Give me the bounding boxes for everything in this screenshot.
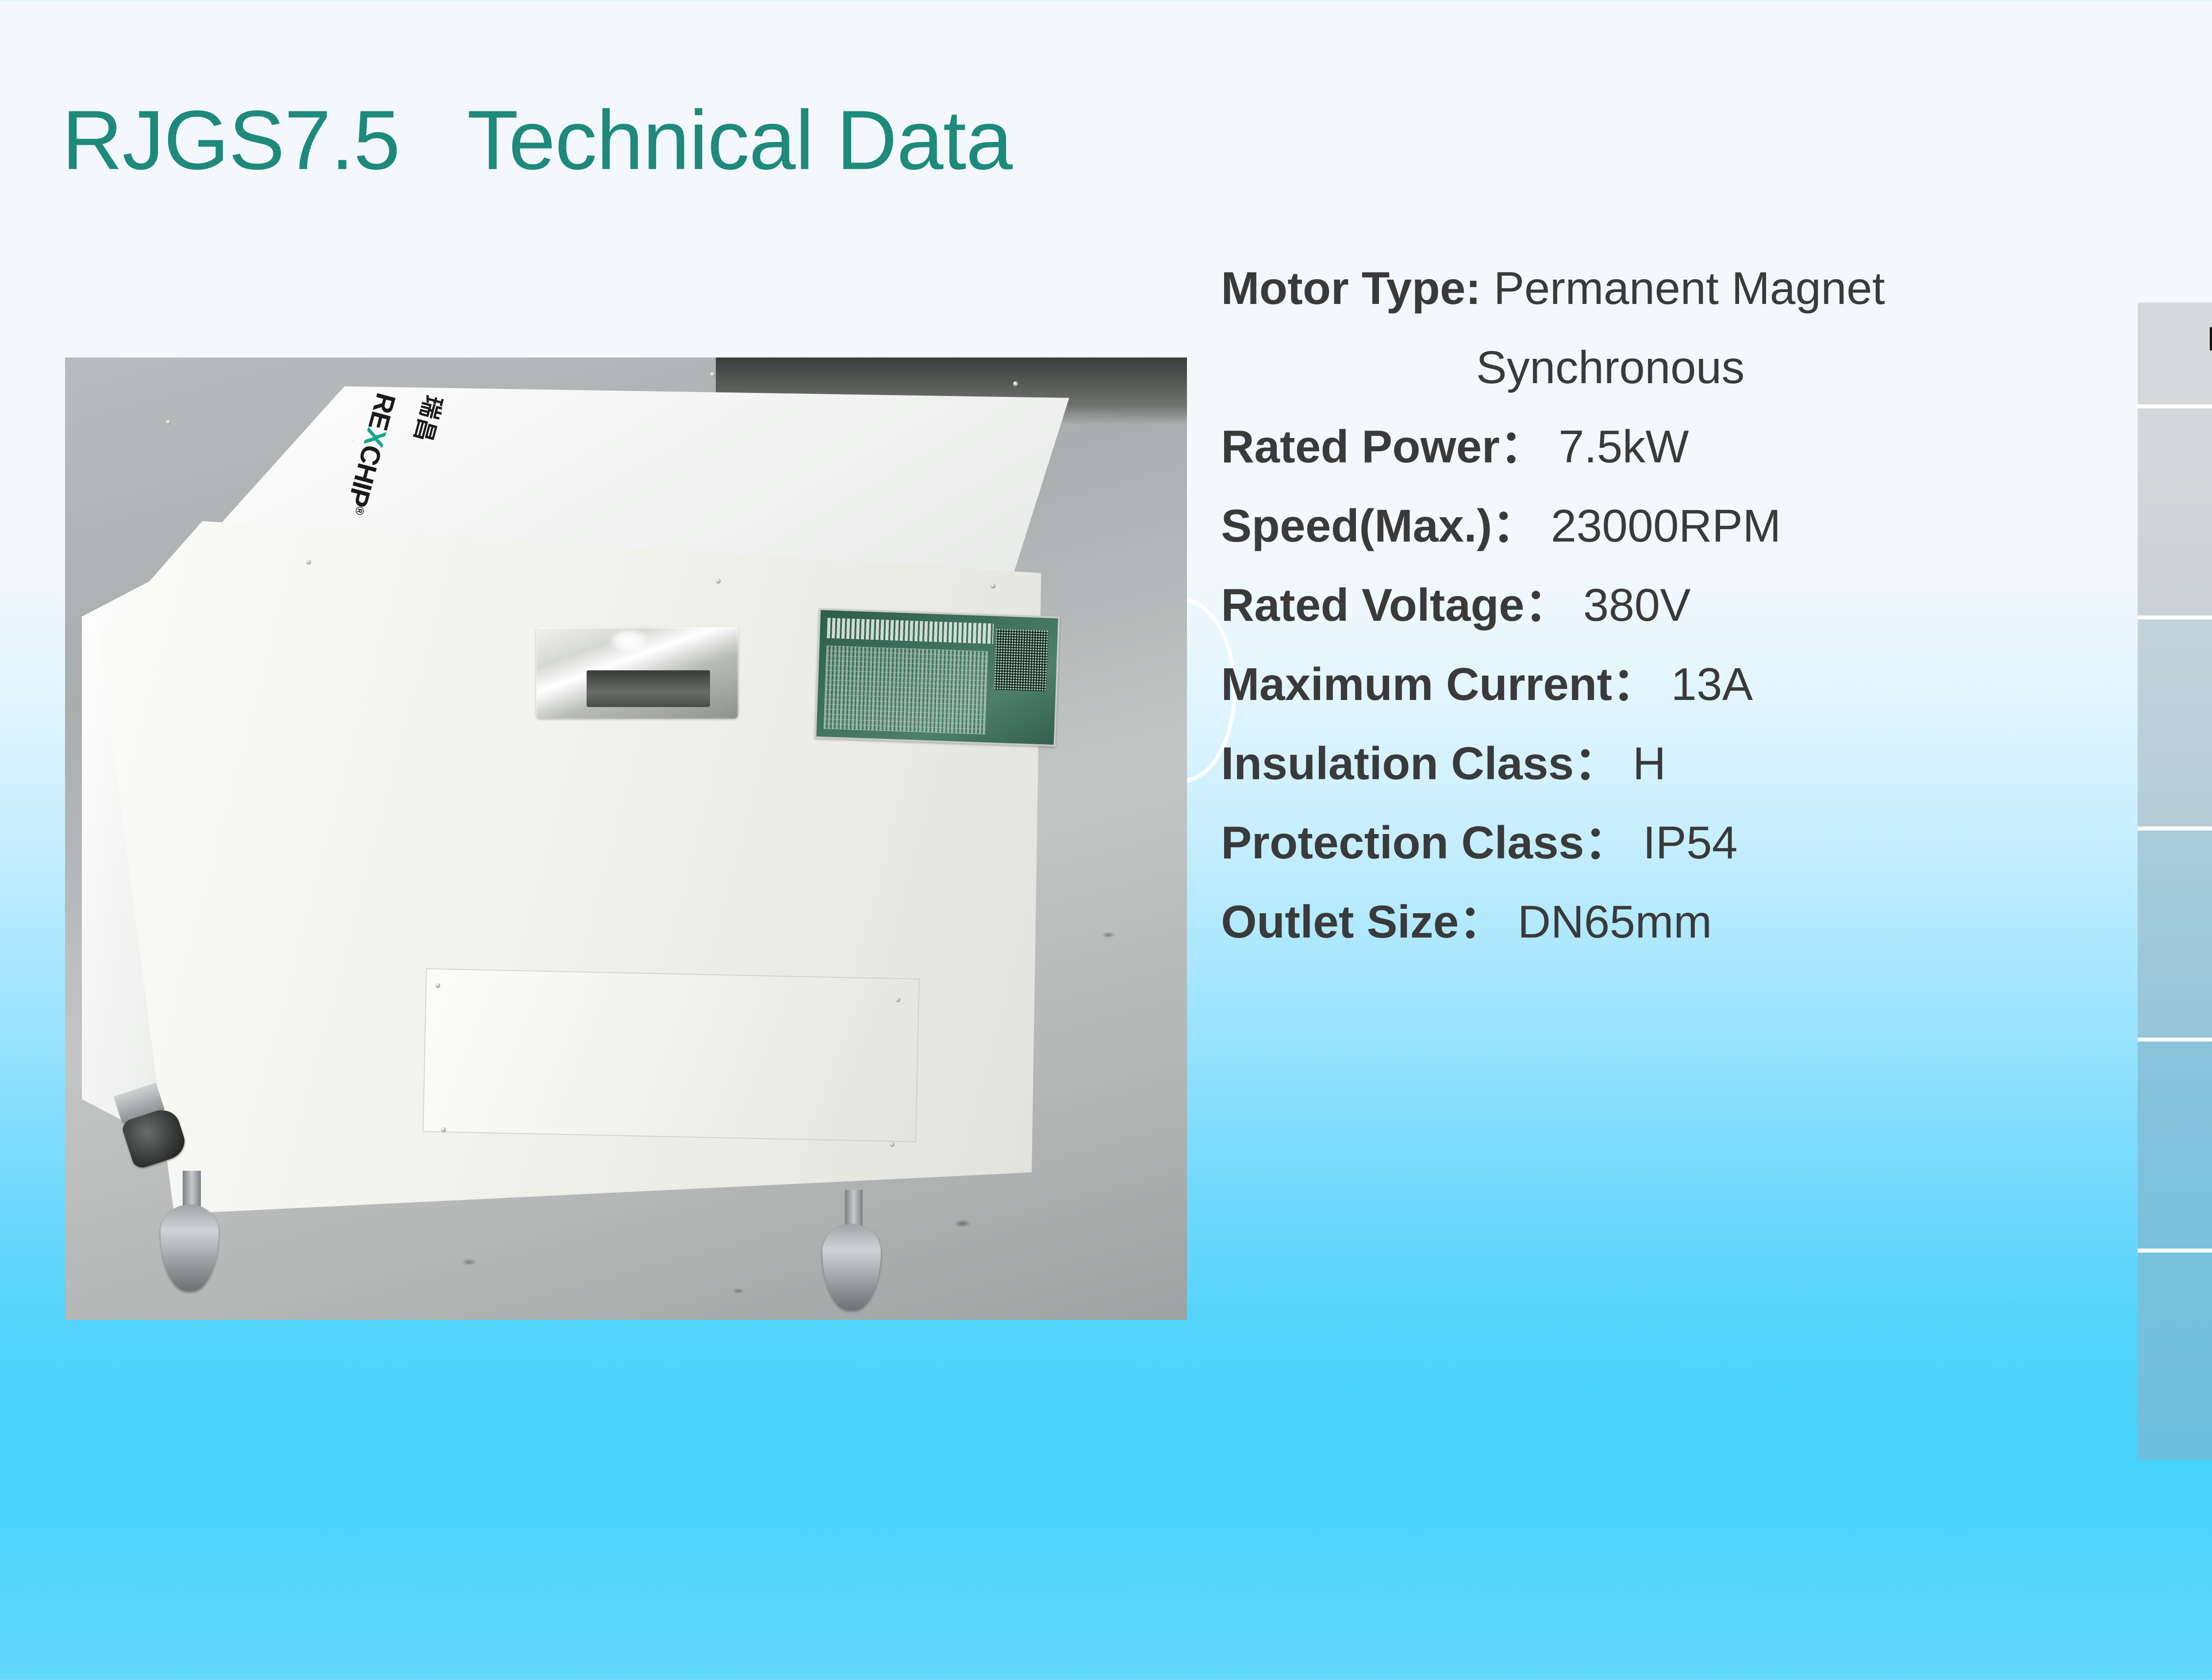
spec-label: Protection Class：	[1221, 817, 1630, 869]
product-photo: REXCHIP® 瑞昌	[65, 358, 1187, 1320]
spec-row-speed-max: Speed(Max.)： 23000RPM	[1221, 503, 2115, 549]
spec-value: 7.5kW	[1559, 421, 1689, 473]
handle-glare	[609, 629, 649, 652]
spec-value: 380V	[1583, 580, 1691, 631]
spec-label: Maximum Current：	[1221, 659, 1658, 710]
table-header-pressure: Pressure （kpa）	[2138, 303, 2212, 408]
table-row: 15 23	[2138, 408, 2212, 619]
spec-row-protection-class: Protection Class： IP54	[1221, 820, 2115, 866]
spec-value: Permanent Magnet	[1494, 263, 1885, 314]
spec-value: 13A	[1671, 659, 1753, 710]
table-row: 20 18	[2138, 619, 2212, 830]
screw-icon	[710, 372, 715, 377]
table-header-row: Pressure （kpa） Airflow （m³/min）	[2138, 303, 2212, 408]
logo-x-accent: X	[358, 425, 392, 450]
spec-value: H	[1632, 738, 1666, 789]
table-row: 30 10	[2138, 1042, 2212, 1253]
qr-code-icon	[994, 629, 1048, 692]
screw-icon	[435, 983, 440, 988]
spec-value: 23000RPM	[1551, 500, 1781, 552]
spec-list: Motor Type: Permanent Magnet Synchronous…	[1221, 265, 2115, 978]
nameplate-title-line	[827, 618, 994, 644]
pressure-airflow-table: Pressure （kpa） Airflow （m³/min） 15 23 20…	[2138, 303, 2212, 1460]
spec-row-motor-type: Motor Type: Permanent Magnet	[1221, 265, 2115, 311]
table-header-pressure-unit: （kpa）	[2138, 357, 2212, 385]
spec-label: Speed(Max.)：	[1221, 500, 1538, 552]
cell-pressure: 35	[2138, 1253, 2212, 1460]
spec-label: Outlet Size：	[1221, 896, 1505, 948]
spec-row-maximum-current: Maximum Current： 13A	[1221, 661, 2115, 707]
spec-value: IP54	[1643, 817, 1738, 869]
spec-label: Insulation Class：	[1221, 738, 1620, 789]
cell-pressure: 20	[2138, 619, 2212, 830]
cell-pressure: 15	[2138, 408, 2212, 619]
nameplate-spec-grid	[824, 646, 988, 735]
spec-label: Motor Type:	[1221, 263, 1481, 314]
screw-icon	[441, 1127, 446, 1132]
spec-value: DN65mm	[1517, 896, 1712, 948]
page-title: RJGS7.5 Technical Data	[62, 98, 1012, 182]
cell-pressure: 30	[2138, 1042, 2212, 1253]
spec-row-outlet-size: Outlet Size： DN65mm	[1221, 899, 2115, 945]
screw-icon	[890, 1142, 895, 1147]
spec-label: Rated Power：	[1221, 421, 1546, 473]
table-row: 25 12	[2138, 830, 2212, 1042]
spec-label: Rated Voltage：	[1221, 580, 1571, 631]
motor-nameplate	[814, 608, 1060, 746]
screw-icon	[895, 997, 900, 1002]
slide-canvas: RJGS7.5 Technical Data	[0, 0, 2212, 1680]
spec-row-rated-voltage: Rated Voltage： 380V	[1221, 582, 2115, 628]
spec-value-motor-type-cont: Synchronous	[1221, 345, 2115, 391]
access-panel	[422, 968, 919, 1142]
table-header-pressure-label: Pressure	[2208, 320, 2212, 358]
table-row: 35 9	[2138, 1253, 2212, 1460]
cell-pressure: 25	[2138, 830, 2212, 1042]
screw-icon	[306, 560, 311, 565]
spec-row-insulation-class: Insulation Class： H	[1221, 741, 2115, 787]
spec-row-rated-power: Rated Power： 7.5kW	[1221, 424, 2115, 470]
carry-handle-slot	[587, 670, 710, 707]
